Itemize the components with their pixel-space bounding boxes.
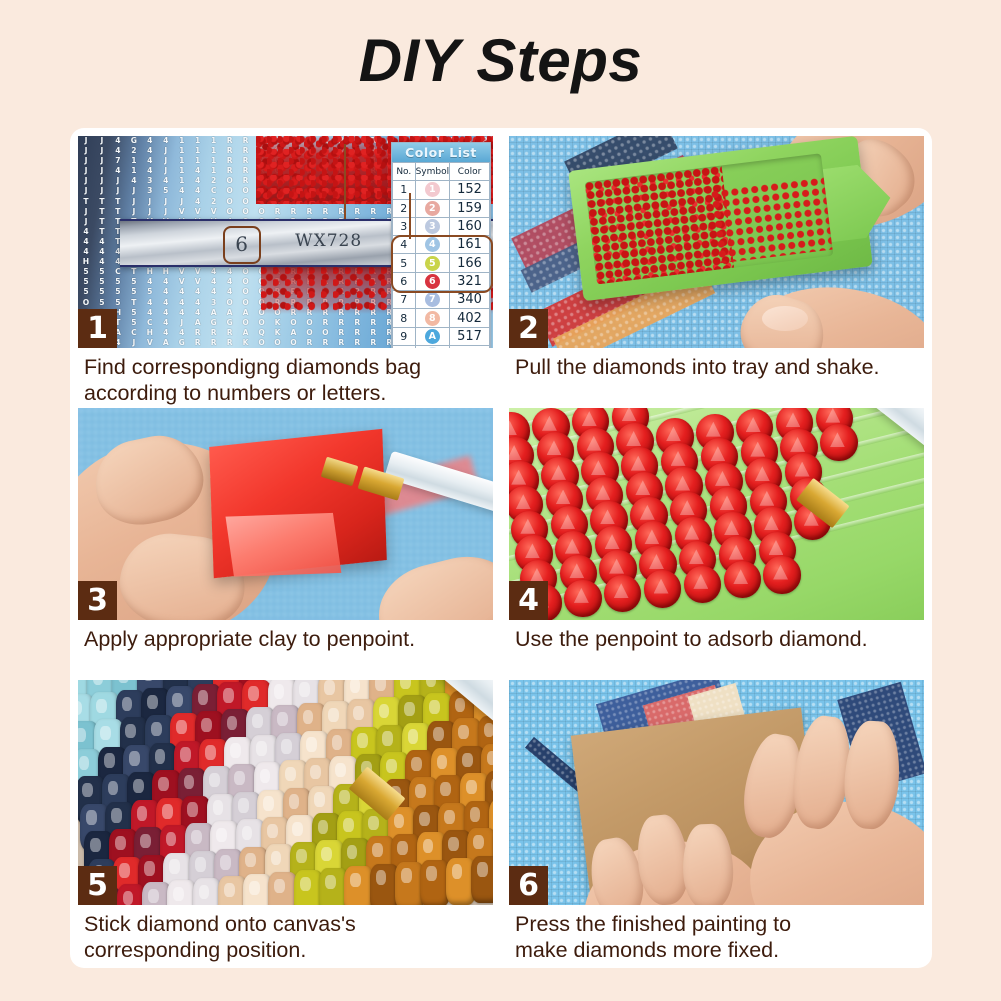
step-4-badge: 4 xyxy=(509,581,548,620)
symbol-swatch: 8 xyxy=(425,311,440,326)
cell-color-code: 340 xyxy=(450,291,490,309)
step-1-photo: JJ4G44111RRRRCRRRRRRRRRRRRJJ424J111RRROR… xyxy=(78,136,493,348)
step-3-caption: Apply appropriate clay to penpoint. xyxy=(70,620,501,652)
color-list-row: 33160 xyxy=(393,217,490,235)
cell-color-code: 166 xyxy=(450,254,490,272)
cell-symbol: 6 xyxy=(415,272,450,290)
cell-no: 5 xyxy=(393,254,416,272)
step-1-badge: 1 xyxy=(78,309,117,348)
color-list-header-row: No. Symbol Color xyxy=(393,163,490,181)
colorful-bead-grid xyxy=(78,680,493,905)
symbol-swatch: 3 xyxy=(425,219,440,234)
cell-color-code: 160 xyxy=(450,217,490,235)
color-list-row: 55166 xyxy=(393,254,490,272)
red-diamond-rows xyxy=(509,408,924,620)
cell-color-code: 402 xyxy=(450,309,490,327)
cell-color-code: 321 xyxy=(450,272,490,290)
step-1: JJ4G44111RRRRCRRRRRRRRRRRRJJ424J111RRROR… xyxy=(70,128,501,400)
red-diamond xyxy=(644,570,681,607)
step-4-photo: 4 xyxy=(509,408,924,620)
step-6-photo: e Book 6 xyxy=(509,680,924,905)
step-6-caption: Press the finished painting to make diam… xyxy=(501,905,932,963)
step-3-badge: 3 xyxy=(78,581,117,620)
bag-number-label: 6 xyxy=(223,226,261,264)
clay-fold xyxy=(226,512,342,576)
color-list-row: 44161 xyxy=(393,236,490,254)
cell-color-code: 152 xyxy=(450,181,490,199)
cell-symbol: 5 xyxy=(415,254,450,272)
red-diamond xyxy=(763,556,800,593)
step-3-photo: 3 xyxy=(78,408,493,620)
step-4: 4 Use the penpoint to adsorb diamond. xyxy=(501,400,932,672)
cell-color-code: 519 xyxy=(450,345,490,348)
red-diamond xyxy=(564,580,601,617)
symbol-swatch: 4 xyxy=(425,237,440,252)
symbol-swatch: A xyxy=(425,329,440,344)
cell-color-code: 161 xyxy=(450,236,490,254)
color-list-row: 88402 xyxy=(393,309,490,327)
symbol-swatch: 7 xyxy=(425,292,440,307)
cell-symbol: 8 xyxy=(415,309,450,327)
step-6-badge: 6 xyxy=(509,866,548,905)
bag-code-label: WX728 xyxy=(295,231,362,251)
fingernail xyxy=(762,306,808,331)
step-5-caption: Stick diamond onto canvas's correspondin… xyxy=(70,905,501,963)
cell-symbol: 4 xyxy=(415,236,450,254)
canvas-diamond-bead xyxy=(471,856,493,904)
step-5-photo-wrap: 5 xyxy=(70,672,501,905)
step-3: 3 Apply appropriate clay to penpoint. xyxy=(70,400,501,672)
col-header-no: No. xyxy=(393,163,416,181)
red-clay xyxy=(209,428,387,578)
step-4-photo-wrap: 4 xyxy=(501,400,932,620)
tray-diamonds-dense xyxy=(584,166,734,285)
step-1-photo-wrap: JJ4G44111RRRRCRRRRRRRRRRRRJJ424J111RRROR… xyxy=(70,128,501,348)
color-list-row: 77340 xyxy=(393,291,490,309)
step-6: e Book 6 Press the finished painting to … xyxy=(501,672,932,968)
cell-symbol: 1 xyxy=(415,181,450,199)
cell-symbol: A xyxy=(415,327,450,345)
red-diamond xyxy=(820,424,857,461)
step-5-photo: 5 xyxy=(78,680,493,905)
cell-symbol: 3 xyxy=(415,217,450,235)
step-3-photo-wrap: 3 xyxy=(70,400,501,620)
step-2-badge: 2 xyxy=(509,309,548,348)
cell-symbol: 7 xyxy=(415,291,450,309)
color-list-panel: Color List No. Symbol Color 111522215933… xyxy=(391,142,491,348)
cell-no: 2 xyxy=(393,199,416,217)
color-list-title: Color List xyxy=(392,143,490,162)
red-diamond xyxy=(724,561,761,598)
tray-diamonds-rows xyxy=(710,176,832,263)
color-list-row: 9A517 xyxy=(393,327,490,345)
steps-card: JJ4G44111RRRRCRRRRRRRRRRRRJJ424J111RRROR… xyxy=(70,128,932,968)
cell-no: 6 xyxy=(393,272,416,290)
diy-steps-page: DIY Steps JJ4G44111RRRRCRRRRRRRRRRRRJJ42… xyxy=(0,0,1001,1001)
symbol-swatch: 2 xyxy=(425,201,440,216)
red-diamond xyxy=(684,566,721,603)
symbol-swatch: 6 xyxy=(425,274,440,289)
color-list-table: No. Symbol Color 11152221593316044161551… xyxy=(392,162,490,348)
cell-no: 4 xyxy=(393,236,416,254)
cell-color-code: 159 xyxy=(450,199,490,217)
cell-no: 7 xyxy=(393,291,416,309)
step-2: 2 Pull the diamonds into tray and shake. xyxy=(501,128,932,400)
step-6-photo-wrap: e Book 6 xyxy=(501,672,932,905)
tray-inner xyxy=(584,153,833,284)
step-4-caption: Use the penpoint to adsorb diamond. xyxy=(501,620,932,652)
step-2-photo-wrap: 2 xyxy=(501,128,932,348)
cell-no: 10 xyxy=(393,345,416,348)
symbol-swatch: 1 xyxy=(425,182,440,197)
step-5: 5 Stick diamond onto canvas's correspond… xyxy=(70,672,501,968)
page-title: DIY Steps xyxy=(0,26,1001,95)
cell-symbol: 2 xyxy=(415,199,450,217)
callout-leader-line xyxy=(344,144,346,218)
step-5-badge: 5 xyxy=(78,866,117,905)
color-list-row: 66321 xyxy=(393,272,490,290)
col-header-symbol: Symbol xyxy=(415,163,450,181)
col-header-color: Color xyxy=(450,163,490,181)
step-1-caption: Find correspondigng diamonds bag accordi… xyxy=(70,348,501,406)
color-list-row: 10C519 xyxy=(393,345,490,348)
step-2-caption: Pull the diamonds into tray and shake. xyxy=(501,348,932,380)
symbol-swatch: 5 xyxy=(425,256,440,271)
symbol-swatch: C xyxy=(425,347,440,348)
color-list-body: 1115222159331604416155166663217734088402… xyxy=(393,181,490,348)
red-diamond xyxy=(604,575,641,612)
cell-no: 8 xyxy=(393,309,416,327)
cell-no: 1 xyxy=(393,181,416,199)
step-2-photo: 2 xyxy=(509,136,924,348)
cell-no: 9 xyxy=(393,327,416,345)
color-list-row: 22159 xyxy=(393,199,490,217)
cell-symbol: C xyxy=(415,345,450,348)
color-list-row: 11152 xyxy=(393,181,490,199)
cell-no: 3 xyxy=(393,217,416,235)
cell-color-code: 517 xyxy=(450,327,490,345)
